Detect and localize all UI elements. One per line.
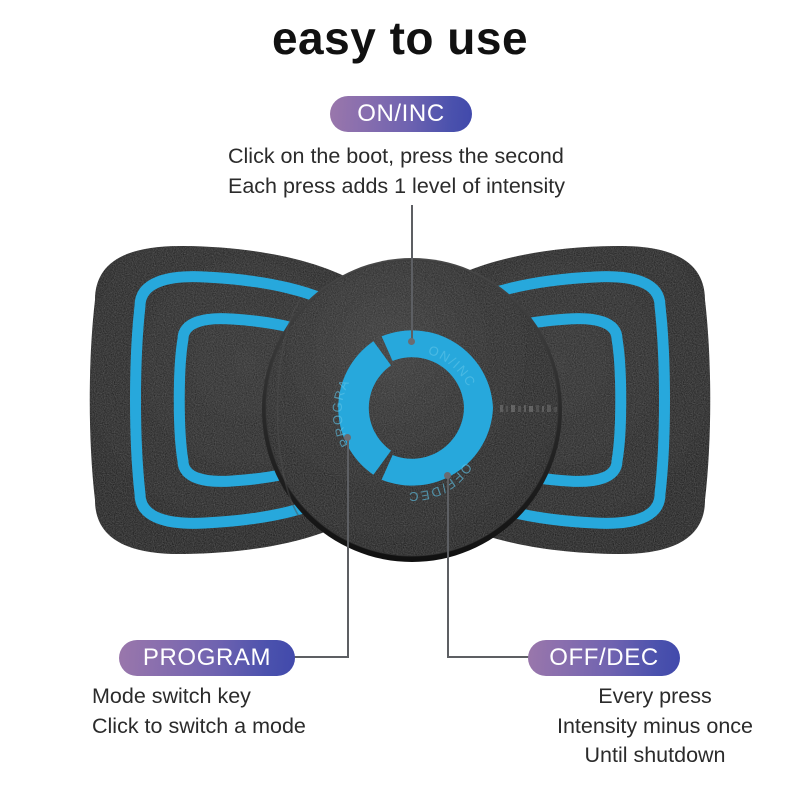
caption-off-dec-line-3: Until shutdown <box>520 741 790 771</box>
caption-on-inc-line-1: Click on the boot, press the second <box>228 142 565 172</box>
caption-off-dec-line-2: Intensity minus once <box>520 712 790 742</box>
caption-off-dec-line-1: Every press <box>520 682 790 712</box>
badge-program[interactable]: PROGRAM <box>119 640 295 676</box>
leader-dot-on-inc <box>408 338 415 345</box>
leader-line-program-vertical <box>347 438 349 658</box>
caption-off-dec: Every press Intensity minus once Until s… <box>520 682 790 771</box>
infographic-page: easy to use <box>0 0 800 800</box>
badge-on-inc[interactable]: ON/INC <box>330 96 472 132</box>
leader-line-off-dec-horizontal <box>447 656 530 658</box>
leader-line-on-inc <box>411 205 413 342</box>
caption-program-line-1: Mode switch key <box>92 682 306 712</box>
badge-off-dec[interactable]: OFF/DEC <box>528 640 680 676</box>
caption-program-line-2: Click to switch a mode <box>92 712 306 742</box>
leader-dot-off-dec <box>444 472 451 479</box>
leader-line-off-dec-vertical <box>447 476 449 658</box>
caption-on-inc-line-2: Each press adds 1 level of intensity <box>228 172 565 202</box>
leader-dot-program <box>344 434 351 441</box>
caption-on-inc: Click on the boot, press the second Each… <box>228 142 565 201</box>
caption-program: Mode switch key Click to switch a mode <box>92 682 306 741</box>
leader-line-program-horizontal <box>293 656 349 658</box>
